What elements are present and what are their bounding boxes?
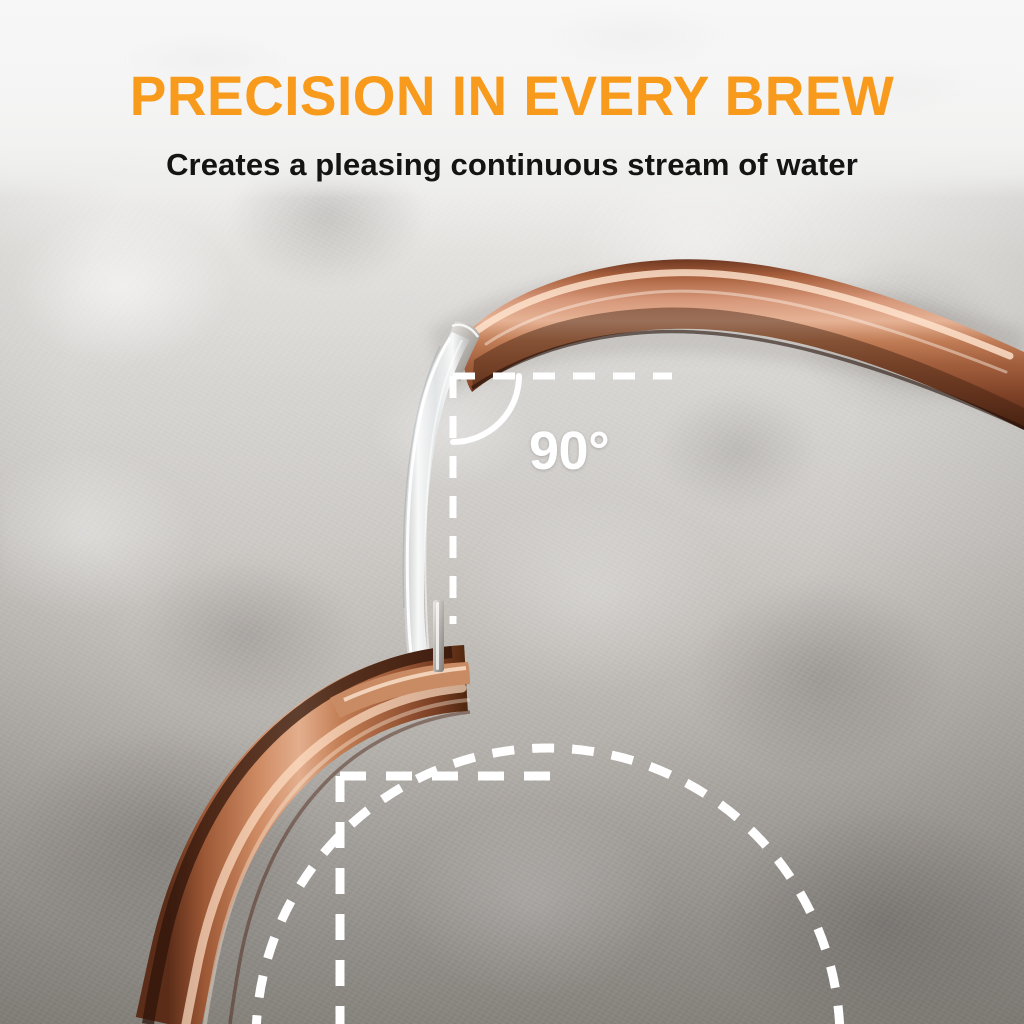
page-headline: PRECISION IN EVERY BREW — [10, 68, 1014, 124]
angle-label-90-degrees: 90° — [529, 424, 609, 478]
right-angle-arc — [453, 376, 519, 442]
page-subheadline: Creates a pleasing continuous stream of … — [0, 146, 1024, 184]
product-marketing-image: PRECISION IN EVERY BREW Creates a pleasi… — [0, 0, 1024, 1024]
